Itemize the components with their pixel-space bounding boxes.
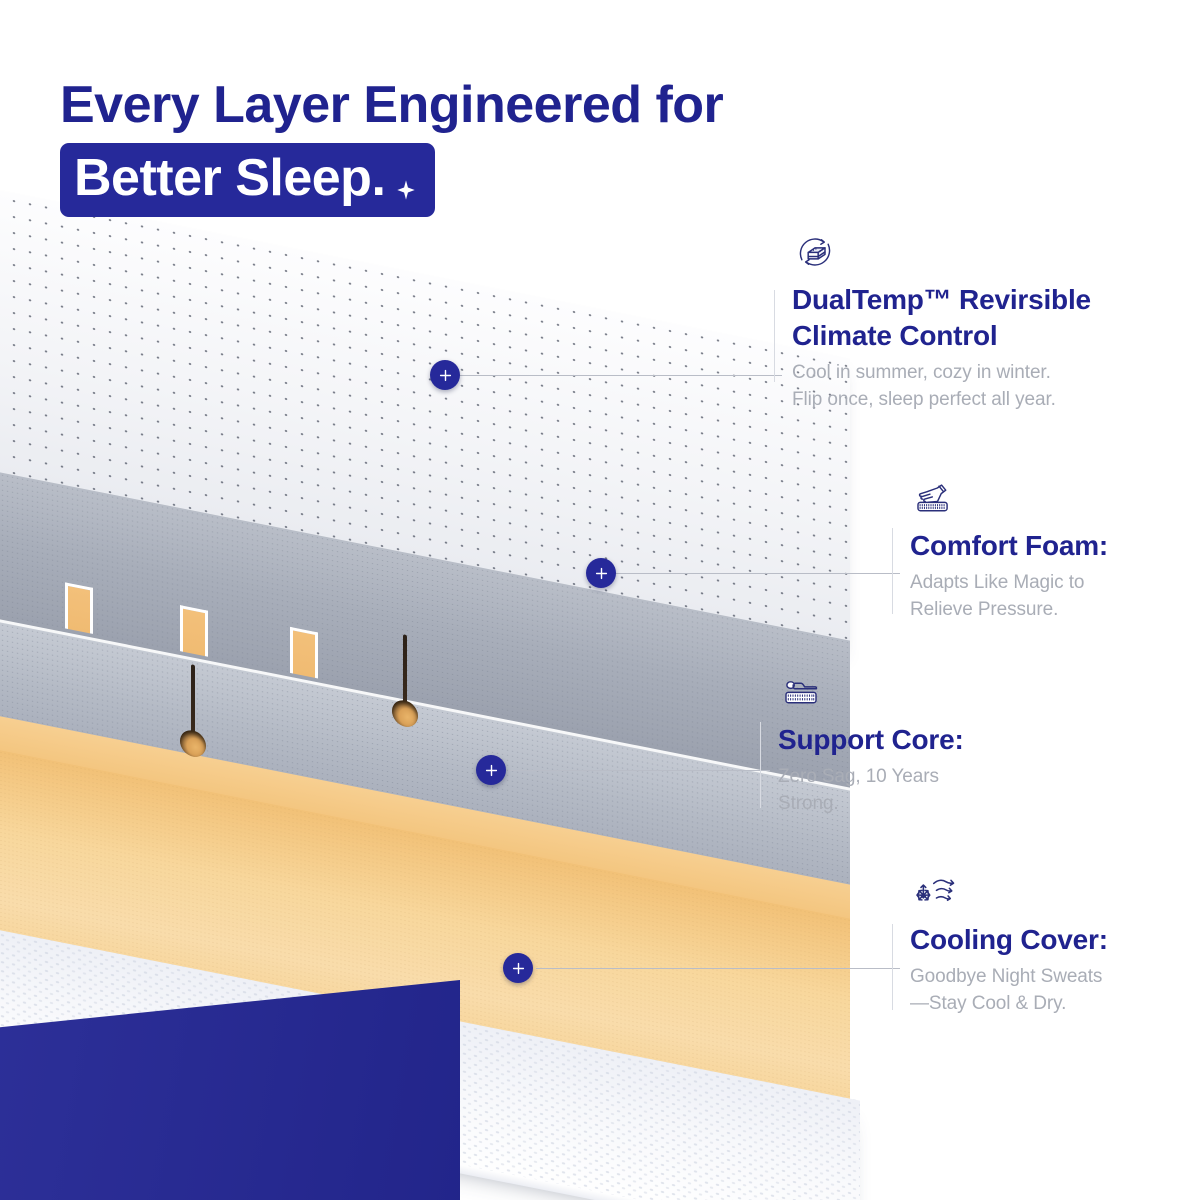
castellation-tooth (180, 605, 208, 657)
callout-comfort-foam[interactable]: Comfort Foam: Adapts Like Magic to Relie… (910, 478, 1200, 624)
callout-description: Adapts Like Magic to Relieve Pressure. (910, 570, 1200, 624)
snowflake-airflow-icon (910, 872, 956, 912)
hotspot-badge-support-core[interactable] (476, 755, 506, 785)
callout-description: Zero Sag, 10 Years Strong. (778, 764, 1078, 818)
callout-cooling-cover[interactable]: Cooling Cover: Goodbye Night Sweats —Sta… (910, 872, 1200, 1018)
hotspot-badge-comfort-foam[interactable] (586, 558, 616, 588)
hotspot-badge-cooling-cover[interactable] (503, 953, 533, 983)
callout-dualtemp[interactable]: DualTemp™ Revirsible Climate Control Coo… (792, 232, 1172, 414)
headline: Every Layer Engineered for Better Sleep. (60, 78, 723, 217)
castellation-tooth (290, 627, 318, 679)
callout-support-core[interactable]: Support Core: Zero Sag, 10 Years Strong. (778, 672, 1078, 818)
callout-left-rule (892, 924, 893, 1010)
castellation-tooth (65, 582, 93, 634)
slot-slit (403, 634, 407, 709)
callout-title: Comfort Foam: (910, 528, 1200, 564)
callout-description: Cool in summer, cozy in winter. Flip onc… (792, 360, 1172, 414)
callout-title: DualTemp™ Revirsible Climate Control (792, 282, 1172, 354)
callout-left-rule (760, 722, 761, 808)
slot-slit (191, 664, 195, 739)
person-lying-mattress-icon (778, 672, 824, 712)
callout-left-rule (774, 290, 775, 382)
hand-press-mattress-icon (910, 478, 956, 518)
connector-line-cooling-cover (536, 968, 900, 969)
infographic-stage: Every Layer Engineered for Better Sleep. (0, 0, 1200, 1200)
headline-highlight-box: Better Sleep. (60, 143, 435, 217)
headline-line-1: Every Layer Engineered for (60, 78, 723, 133)
callout-title: Support Core: (778, 722, 1078, 758)
connector-line-comfort-foam (608, 573, 900, 574)
mattress-flip-icon (792, 232, 838, 272)
callout-title: Cooling Cover: (910, 922, 1200, 958)
callout-description: Goodbye Night Sweats —Stay Cool & Dry. (910, 964, 1200, 1018)
hotspot-badge-dualtemp[interactable] (430, 360, 460, 390)
callout-left-rule (892, 528, 893, 614)
connector-line-support-core (508, 770, 770, 771)
headline-line-2: Better Sleep. (74, 152, 385, 205)
connector-line-dualtemp (452, 375, 782, 376)
sparkle-icon (395, 179, 417, 201)
